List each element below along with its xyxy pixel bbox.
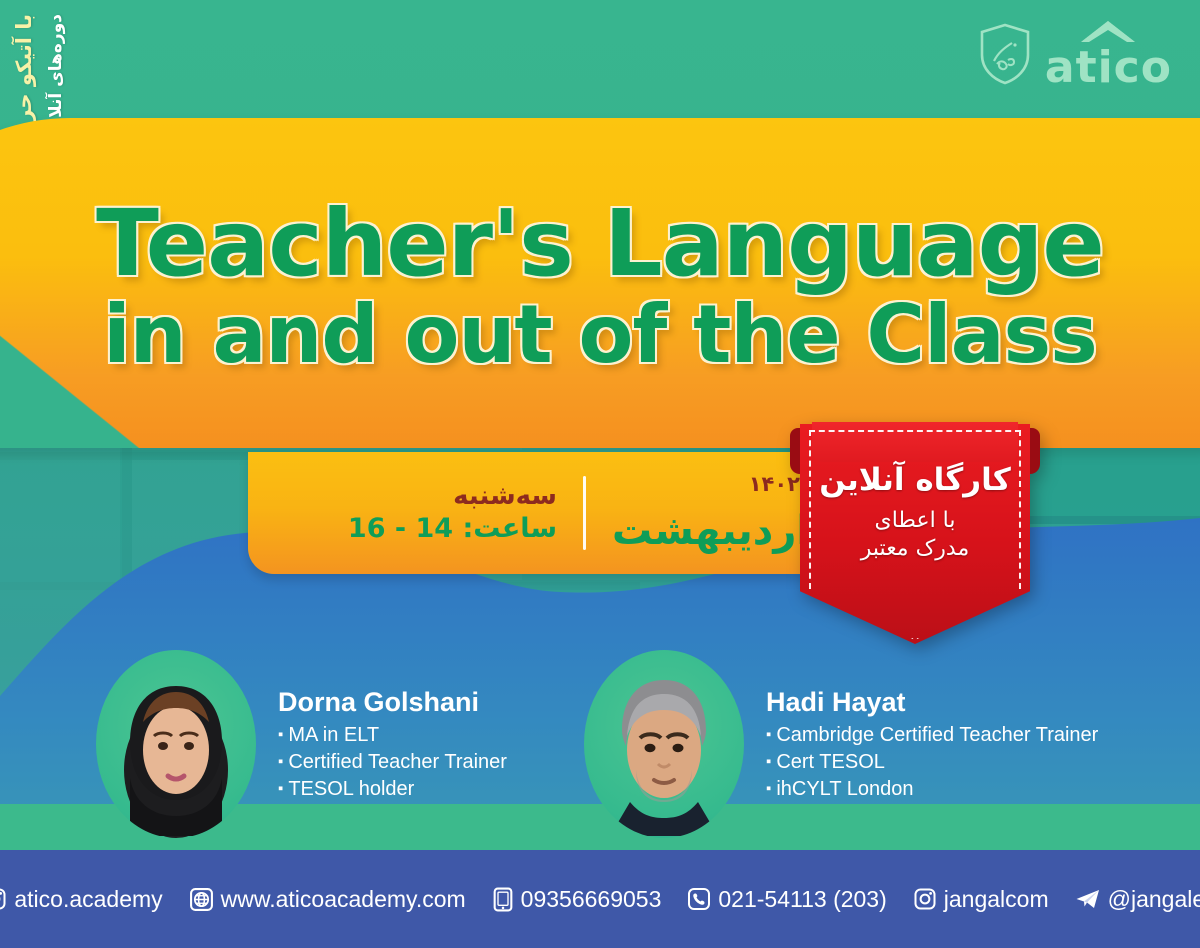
- footer-contact-bar: atico.academy www.aticoacademy.com 09356…: [0, 850, 1200, 948]
- presenter-name: Dorna Golshani: [278, 686, 507, 720]
- contact-label: 09356669053: [521, 886, 662, 913]
- ribbon-subtitle-1: با اعطای: [874, 507, 955, 535]
- globe-icon: [189, 887, 214, 912]
- date-time: ساعت: 14 - 16: [348, 514, 557, 544]
- portrait-illustration-male: [584, 650, 744, 838]
- presenter-info: Dorna Golshani ▪MA in ELT ▪Certified Tea…: [278, 686, 507, 803]
- poster-root: با آتیکو حرفه‌ای شوید دوره‌های آنلاین آک…: [0, 0, 1200, 948]
- ribbon-title: کارگاه آنلاین: [819, 462, 1011, 499]
- date-month: اردیبهشت: [612, 511, 810, 551]
- contact-label: @jangalelt: [1108, 886, 1200, 913]
- instagram-icon: [913, 887, 937, 911]
- shield-emblem-icon: [979, 23, 1031, 85]
- atico-logo: atico: [1045, 18, 1172, 90]
- presenter-card: Dorna Golshani ▪MA in ELT ▪Certified Tea…: [96, 636, 566, 852]
- chevron-up-icon: [1079, 18, 1137, 44]
- contact-website[interactable]: www.aticoacademy.com: [189, 886, 466, 913]
- presenter-name: Hadi Hayat: [766, 686, 1098, 720]
- ribbon-subtitle-2: مدرک معتبر: [861, 535, 969, 563]
- mobile-icon: [492, 887, 514, 912]
- contact-label: www.aticoacademy.com: [221, 886, 466, 913]
- presenter-credential: ▪ihCYLT London: [766, 776, 1098, 803]
- phone-icon: [687, 887, 711, 911]
- contact-label: 021-54113 (203): [718, 886, 886, 913]
- contact-label: atico.academy: [14, 886, 162, 913]
- date-weekday: سه‌شنبه: [453, 482, 557, 511]
- contact-telegram[interactable]: @jangalelt: [1075, 886, 1200, 913]
- ribbon-text-block: کارگاه آنلاین با اعطای مدرک معتبر: [800, 424, 1030, 644]
- contact-label: jangalcom: [944, 886, 1049, 913]
- instagram-icon: [0, 887, 7, 911]
- brand-logos: atico: [979, 18, 1172, 90]
- date-year: ۱۴۰۲: [749, 474, 800, 495]
- presenter-credential: ▪Certified Teacher Trainer: [278, 749, 507, 776]
- avatar-photo-hadi: [584, 650, 744, 838]
- atico-wordmark: atico: [1045, 46, 1172, 90]
- telegram-icon: [1075, 888, 1101, 910]
- avatar-photo-dorna: [96, 650, 256, 838]
- contact-instagram-jangal[interactable]: jangalcom: [913, 886, 1049, 913]
- date-divider: [583, 476, 586, 550]
- contact-mobile[interactable]: 09356669053: [492, 886, 662, 913]
- presenter-credential: ▪Cambridge Certified Teacher Trainer: [766, 722, 1098, 749]
- presenter-info: Hadi Hayat ▪Cambridge Certified Teacher …: [766, 686, 1098, 803]
- presenter-credential: ▪TESOL holder: [278, 776, 507, 803]
- presenter-card: Hadi Hayat ▪Cambridge Certified Teacher …: [584, 636, 1124, 852]
- portrait-illustration-female: [96, 650, 256, 838]
- date-group-left: سه‌شنبه ساعت: 14 - 16: [348, 482, 557, 544]
- presenter-credential: ▪MA in ELT: [278, 722, 507, 749]
- presenters-section: Dorna Golshani ▪MA in ELT ▪Certified Tea…: [0, 636, 1200, 852]
- title-banner-shape: [0, 118, 1200, 448]
- presenter-credential: ▪Cert TESOL: [766, 749, 1098, 776]
- contact-instagram-atico[interactable]: atico.academy: [0, 886, 163, 913]
- online-workshop-ribbon: کارگاه آنلاین با اعطای مدرک معتبر: [800, 424, 1030, 644]
- contact-phone[interactable]: 021-54113 (203): [687, 886, 886, 913]
